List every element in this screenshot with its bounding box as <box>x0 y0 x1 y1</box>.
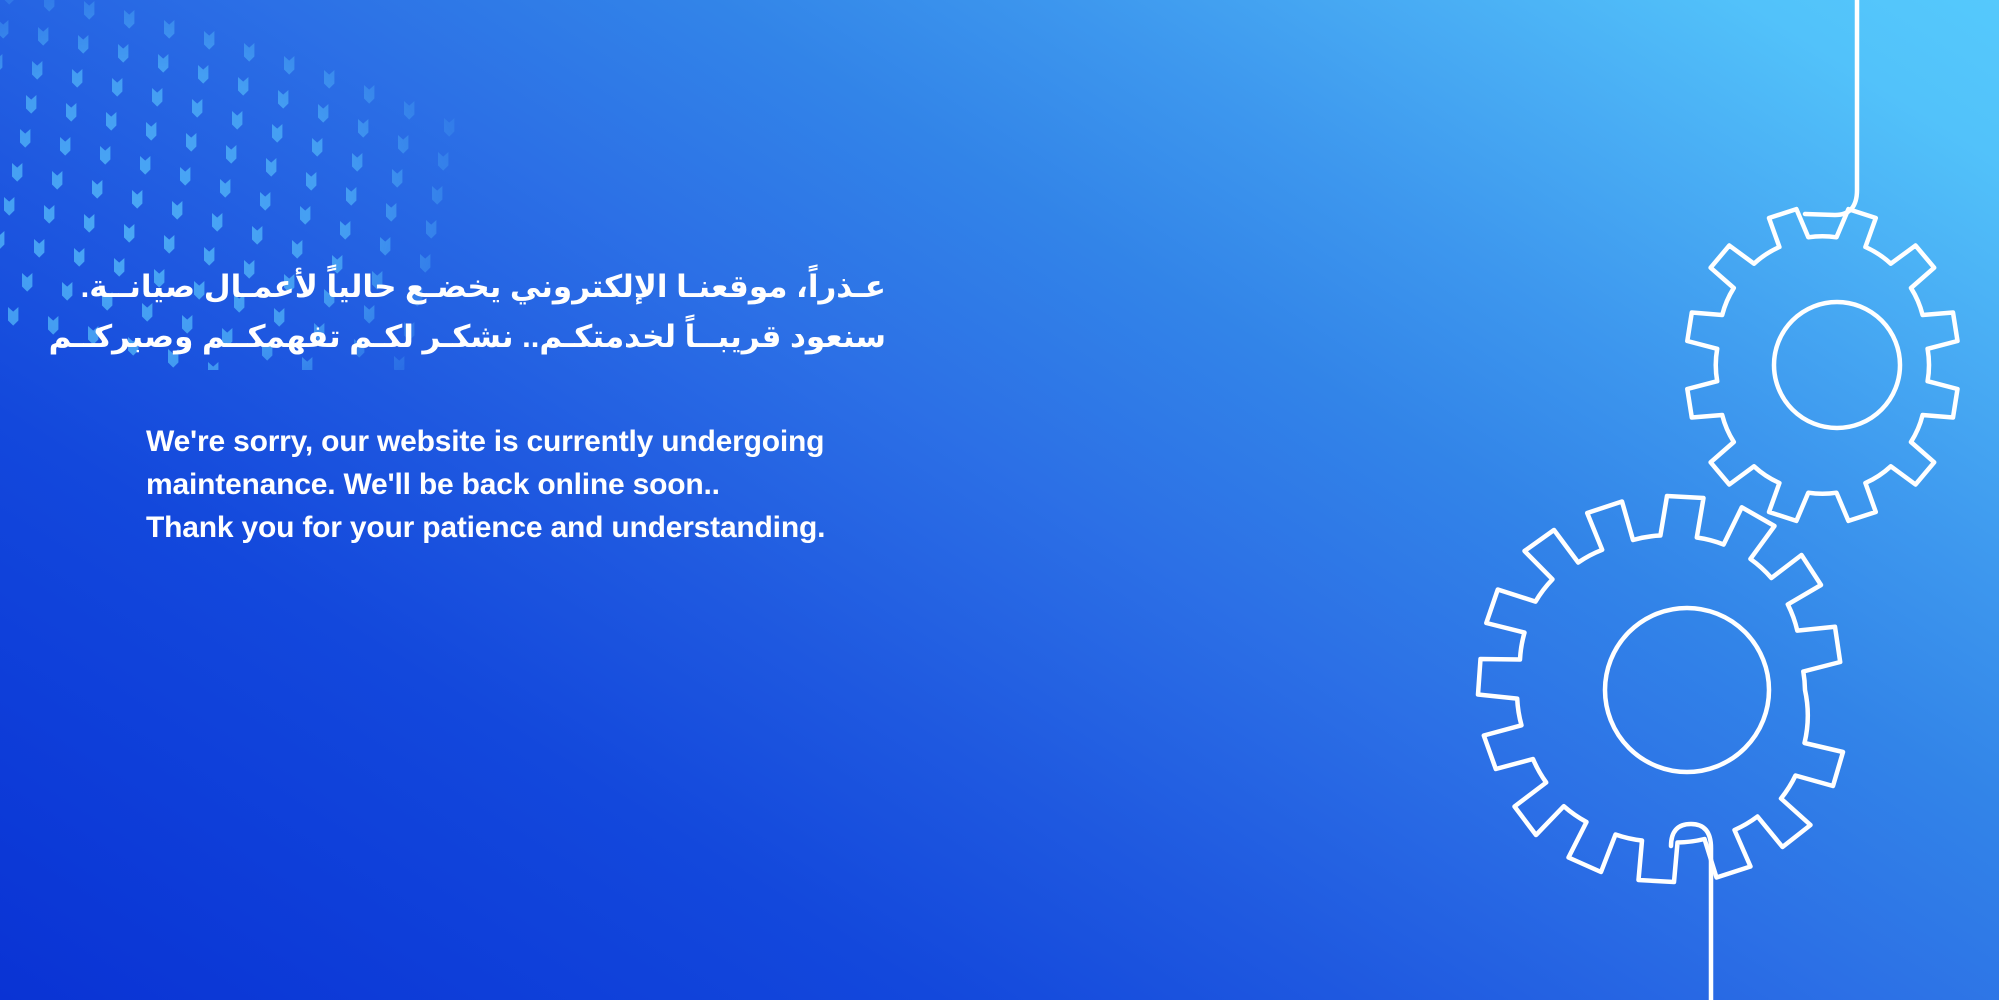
gear-small-hub <box>1774 302 1900 428</box>
gear-small <box>1687 209 1957 521</box>
gear-illustration <box>1239 0 1999 1000</box>
gear-stem-bottom <box>1671 824 1711 1000</box>
message-english: We're sorry, our website is currently un… <box>146 420 1046 549</box>
message-english-line-2: maintenance. We'll be back online soon.. <box>146 463 1046 506</box>
message-english-line-1: We're sorry, our website is currently un… <box>146 420 1046 463</box>
maintenance-message: عـذراً، موقعنـا الإلكتروني يخضـع حالياً … <box>146 262 1046 549</box>
maintenance-page: عـذراً، موقعنـا الإلكتروني يخضـع حالياً … <box>0 0 1999 1000</box>
message-arabic-line-1: عـذراً، موقعنـا الإلكتروني يخضـع حالياً … <box>146 262 886 312</box>
message-arabic: عـذراً، موقعنـا الإلكتروني يخضـع حالياً … <box>146 262 886 362</box>
message-english-line-3: Thank you for your patience and understa… <box>146 506 1046 549</box>
message-arabic-line-2: سنعود قريبــاً لخدمتكـم.. نشكـر لكـم تفه… <box>146 312 886 362</box>
gear-large <box>1478 496 1843 882</box>
gear-large-hub <box>1605 608 1769 772</box>
gear-stem-top <box>1805 0 1857 215</box>
